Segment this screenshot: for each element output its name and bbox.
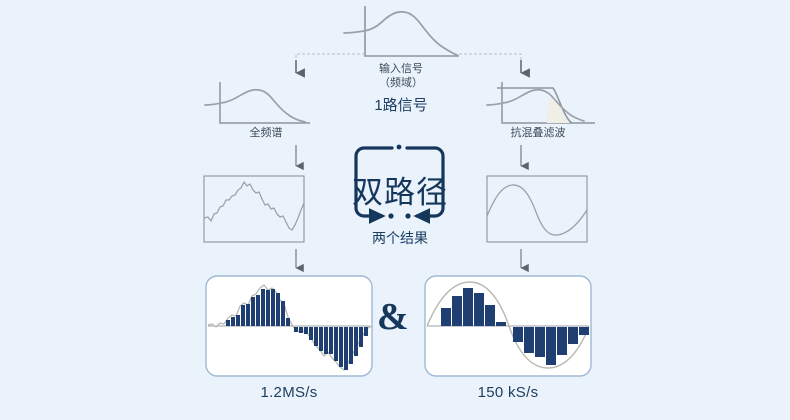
input-signal-caption-line1: 输入信号: [341, 62, 461, 76]
sine-waveform-chart: [487, 176, 587, 242]
input-signal-chart: [344, 6, 459, 56]
one-channel-label: 1路信号: [341, 99, 461, 113]
noisy-waveform-chart: [204, 176, 304, 242]
ampersand-label: &: [377, 295, 409, 339]
diagram-canvas: 输入信号 （频域） 1路信号 全频谱 抗混叠滤波 双路径 两个结果 & 1.2M…: [0, 0, 790, 420]
antialias-filter-caption: 抗混叠滤波: [483, 126, 593, 140]
arrow-input-to-antialias: [459, 54, 521, 73]
rate-right-label: 150 kS/s: [448, 386, 568, 400]
two-results-label: 两个结果: [340, 231, 460, 245]
rate-left-label: 1.2MS/s: [229, 386, 349, 400]
antialias-filter-chart: [487, 82, 595, 123]
high-rate-sampled-chart: [206, 276, 372, 376]
low-rate-sampled-chart: [425, 276, 591, 376]
input-signal-caption: 输入信号 （频域）: [341, 62, 461, 90]
full-spectrum-chart: [205, 82, 310, 123]
dual-path-label: 双路径: [330, 167, 470, 212]
full-spectrum-caption: 全频谱: [216, 126, 316, 140]
input-signal-caption-line2: （频域）: [341, 76, 461, 90]
